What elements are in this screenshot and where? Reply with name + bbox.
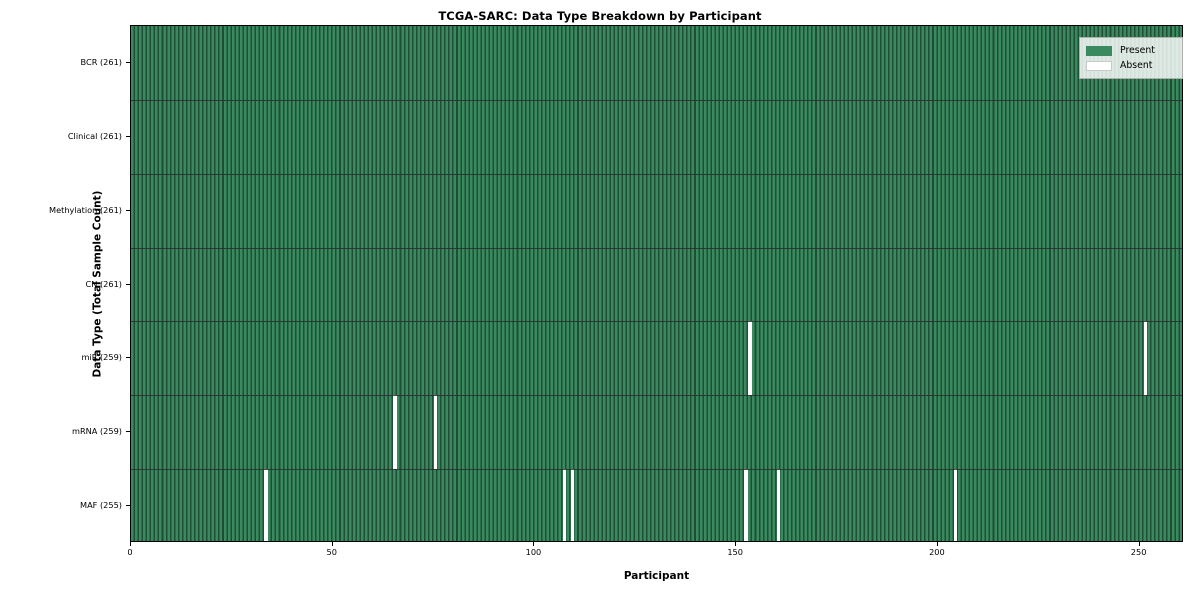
x-tick-mark [332, 542, 333, 546]
chart-figure: TCGA-SARC: Data Type Breakdown by Partic… [0, 0, 1200, 600]
row-present-bars [131, 100, 1182, 174]
x-tick-label: 100 [526, 547, 542, 557]
legend-swatch-present [1086, 46, 1112, 56]
row-present-bars [131, 321, 1182, 395]
row-present-bars [131, 469, 1182, 542]
y-tick-label-clinical: Clinical (261) [4, 131, 122, 141]
absent-cell [434, 395, 437, 469]
absent-cell [563, 469, 566, 542]
legend-item: Present [1086, 43, 1175, 58]
row-present-bars [131, 26, 1182, 100]
heatmap-row-cn [131, 248, 1182, 322]
legend-label-absent: Absent [1120, 60, 1152, 71]
absent-cell [748, 321, 751, 395]
absent-cell [954, 469, 957, 542]
absent-cell [571, 469, 574, 542]
x-tick-mark [1139, 542, 1140, 546]
absent-cell [777, 469, 780, 542]
x-tick-mark [735, 542, 736, 546]
chart-legend: PresentAbsent [1079, 37, 1183, 79]
heatmap-row-clinical [131, 100, 1182, 174]
absent-cell [393, 395, 396, 469]
legend-item: Absent [1086, 58, 1175, 73]
legend-label-present: Present [1120, 45, 1155, 56]
heatmap-row-methylation [131, 174, 1182, 248]
y-tick-label-mrna: mRNA (259) [4, 426, 122, 436]
heatmap-row-bcr [131, 26, 1182, 100]
x-tick-label: 150 [727, 547, 743, 557]
x-tick-label: 250 [1131, 547, 1147, 557]
y-tick-label-maf: MAF (255) [4, 500, 122, 510]
page-title: TCGA-SARC: Data Type Breakdown by Partic… [0, 9, 1200, 23]
row-divider [131, 174, 1182, 175]
heatmap-row-mrna [131, 395, 1182, 469]
row-present-bars [131, 174, 1182, 248]
y-tick-label-cn: CN (261) [4, 279, 122, 289]
absent-cell [744, 469, 747, 542]
row-present-bars [131, 395, 1182, 469]
heatmap-row-mir [131, 321, 1182, 395]
row-divider [131, 100, 1182, 101]
x-tick-mark [533, 542, 534, 546]
x-axis-label: Participant [130, 570, 1183, 582]
row-divider [131, 321, 1182, 322]
row-present-bars [131, 248, 1182, 322]
x-tick-label: 50 [327, 547, 337, 557]
y-tick-label-methylation: Methylation (261) [4, 205, 122, 215]
legend-swatch-absent [1086, 61, 1112, 71]
heatmap-plot-area [130, 25, 1183, 542]
row-divider [131, 248, 1182, 249]
x-tick-label: 0 [127, 547, 132, 557]
y-tick-label-bcr: BCR (261) [4, 57, 122, 67]
x-tick-mark [130, 542, 131, 546]
absent-cell [1144, 321, 1147, 395]
y-tick-label-mir: miR (259) [4, 352, 122, 362]
heatmap-row-maf [131, 469, 1182, 542]
absent-cell [264, 469, 267, 542]
row-divider [131, 395, 1182, 396]
x-tick-label: 200 [929, 547, 945, 557]
x-tick-mark [937, 542, 938, 546]
row-divider [131, 469, 1182, 470]
